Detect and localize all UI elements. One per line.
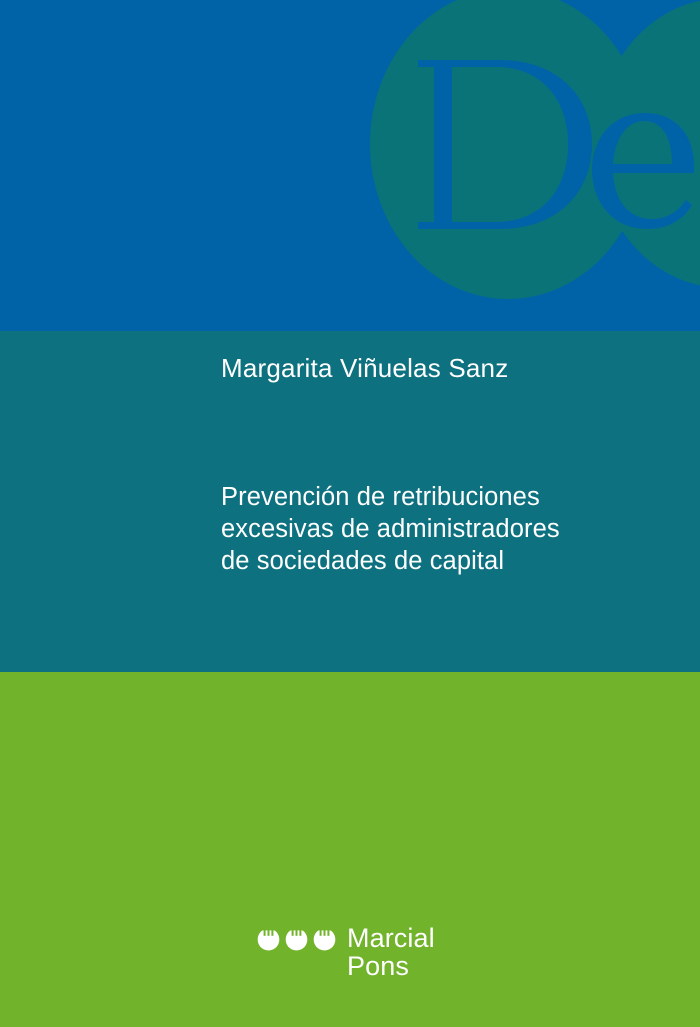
de-ellipse-monogram-icon	[0, 0, 700, 331]
publisher-wordmark: Marcial Pons	[347, 924, 435, 980]
title-line-1: Prevención de retribuciones	[221, 481, 641, 513]
de-monogram-decoration	[0, 0, 700, 331]
book-cover: Margarita Viñuelas Sanz Prevención de re…	[0, 0, 700, 1027]
author-name: Margarita Viñuelas Sanz	[221, 353, 508, 384]
publisher-wordmark-line-1: Marcial	[347, 924, 435, 952]
marcial-pons-dome-mark-icon-1	[257, 928, 280, 951]
marcial-pons-dome-mark-icon-3	[313, 928, 336, 951]
publisher-logo-marks	[257, 924, 336, 951]
title-line-2: excesivas de administradores	[221, 513, 641, 545]
book-title: Prevención de retribuciones excesivas de…	[221, 481, 641, 577]
title-line-3: de sociedades de capital	[221, 545, 641, 577]
publisher-wordmark-line-2: Pons	[347, 952, 435, 980]
marcial-pons-dome-mark-icon-2	[285, 928, 308, 951]
publisher-logo: Marcial Pons	[257, 924, 435, 980]
